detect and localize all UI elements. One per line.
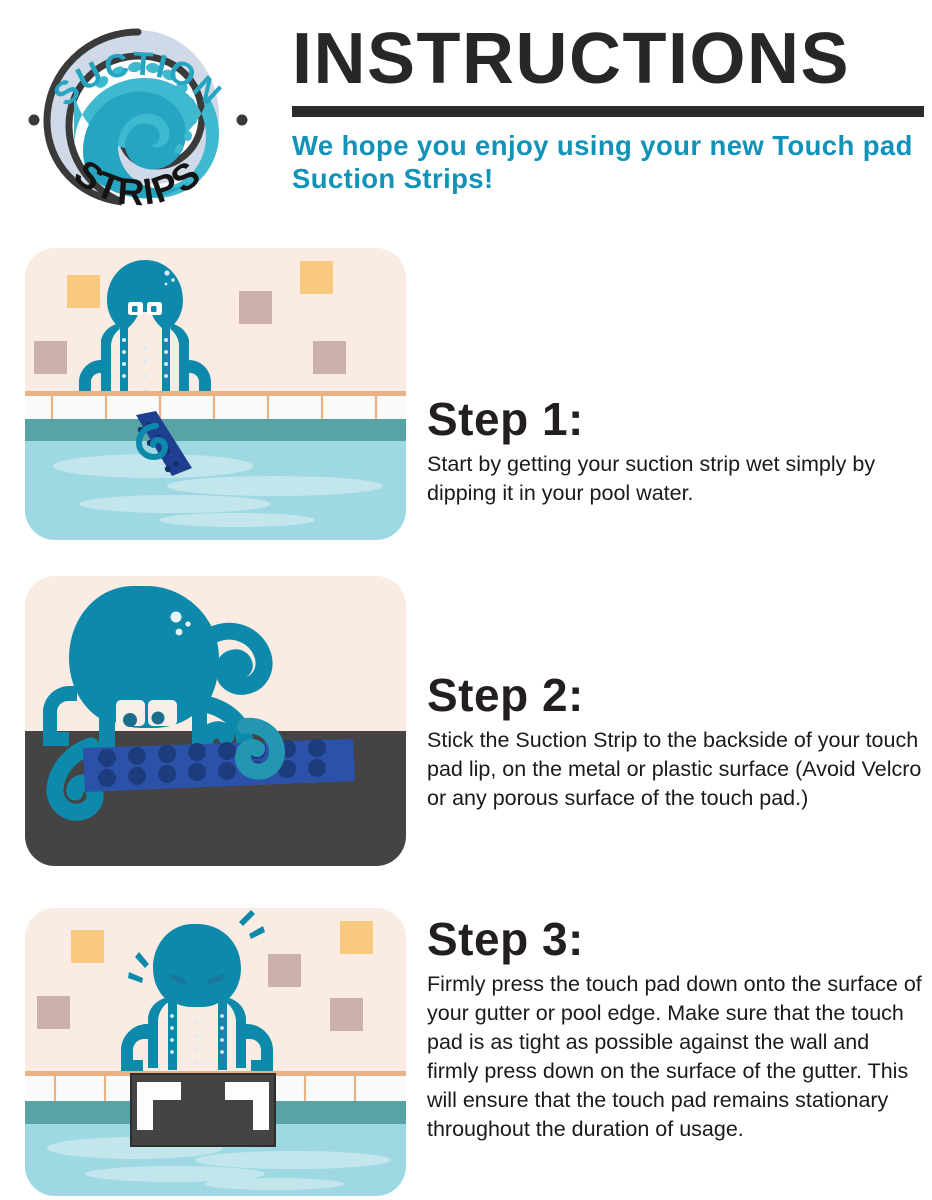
step-3-body: Firmly press the touch pad down onto the…: [427, 970, 922, 1144]
step-2-copy: Step 2: Stick the Suction Strip to the b…: [427, 576, 922, 813]
tile-band-teal: [25, 419, 406, 441]
step-3-heading: Step 3:: [427, 914, 922, 964]
page-subtitle: We hope you enjoy using your new Touch p…: [292, 129, 924, 195]
step-3-copy: Step 3: Firmly press the touch pad down …: [427, 908, 922, 1144]
title-divider: [292, 106, 924, 117]
step-1-illustration: [25, 248, 406, 540]
step-1-body: Start by getting your suction strip wet …: [427, 450, 922, 508]
octopus-dipping-strip-scene: [25, 248, 406, 540]
step-1-copy: Step 1: Start by getting your suction st…: [427, 248, 922, 508]
octopus-pressing-touchpad-scene: [25, 908, 406, 1196]
octopus-sticking-strip-scene: [25, 576, 406, 866]
touch-pad: [131, 1074, 275, 1146]
page-title: INSTRUCTIONS: [292, 18, 924, 100]
brand-logo: SUCTION STRIPS: [14, 8, 262, 224]
instruction-sheet: SUCTION STRIPS INSTRUCTIONS We hope you …: [0, 0, 932, 1200]
tentacle-pressing-strip: [243, 726, 277, 772]
tile-row: [25, 396, 406, 419]
step-2-heading: Step 2:: [427, 670, 922, 720]
wave-spiral-logo-icon: SUCTION STRIPS: [14, 8, 262, 224]
step-row-1: Step 1: Start by getting your suction st…: [0, 248, 932, 540]
step-3-illustration: [25, 908, 406, 1196]
step-1-heading: Step 1:: [427, 394, 922, 444]
step-row-2: Step 2: Stick the Suction Strip to the b…: [0, 576, 932, 866]
step-2-body: Stick the Suction Strip to the backside …: [427, 726, 922, 813]
step-2-illustration: [25, 576, 406, 866]
logo-dot-left: [29, 115, 40, 126]
step-row-3: Step 3: Firmly press the touch pad down …: [0, 908, 932, 1196]
title-block: INSTRUCTIONS We hope you enjoy using you…: [292, 18, 924, 195]
logo-dot-right: [237, 115, 248, 126]
pool-coping: [25, 391, 406, 396]
header: SUCTION STRIPS INSTRUCTIONS We hope you …: [0, 0, 932, 232]
